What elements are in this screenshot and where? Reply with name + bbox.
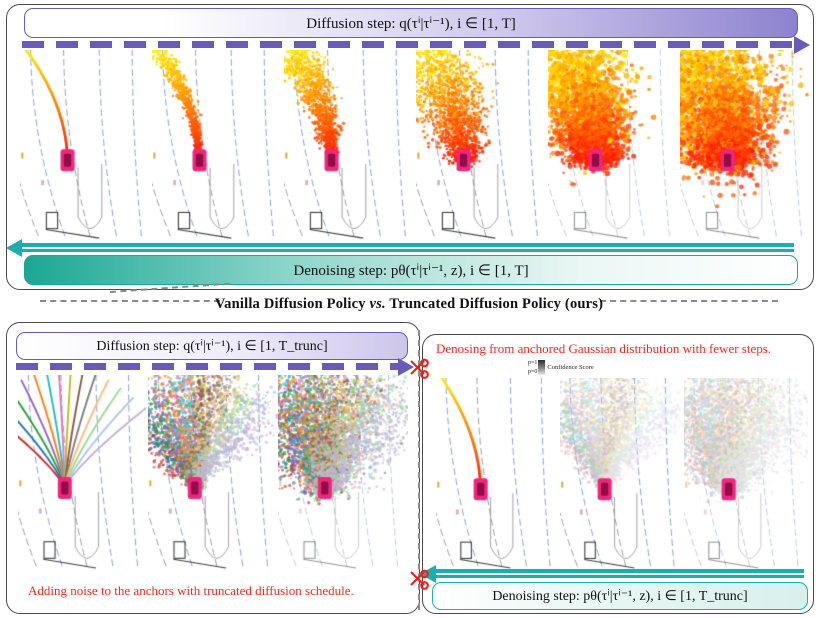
arrow-shaft [22,243,794,247]
scene-br-2 [560,378,684,570]
arrow-shaft [16,363,398,370]
scene-bl-2 [148,375,278,570]
scene-top-5 [548,50,680,240]
br-denoising-step-text: Denoising step: pθ(τⁱ|τⁱ⁻¹, z), i ∈ [1, … [492,588,747,605]
divider-caption-emph: vs. [370,296,386,312]
divider-caption-part2: Truncated Diffusion Policy (ours) [386,296,603,312]
legend-gradient-bar [538,360,545,375]
br-note-text: Denosing from anchored Gaussian distribu… [436,341,771,357]
top-diffusion-step-text: Diffusion step: q(τⁱ|τⁱ⁻¹), i ∈ [1, T] [306,14,516,33]
arrow-shaft [22,41,794,48]
scene-br-1 [436,378,560,570]
top-diffusion-step-label: Diffusion step: q(τⁱ|τⁱ⁻¹), i ∈ [1, T] [24,8,798,38]
divider-caption-part1: Vanilla Diffusion Policy [215,296,370,312]
bl-diffusion-step-label: Diffusion step: q(τⁱ|τⁱ⁻¹), i ∈ [1, T_tr… [16,332,408,360]
scene-top-2 [152,50,284,240]
top-denoising-step-label: Denoising step: pθ(τⁱ|τⁱ⁻¹, z), i ∈ [1, … [24,255,798,285]
scene-bl-3 [278,375,408,570]
confidence-score-legend: p=1 p=0 Confidence Score [528,360,594,375]
divider-caption: Vanilla Diffusion Policy vs. Truncated D… [0,296,818,313]
legend-top-label: p=1 [528,360,537,366]
legend-ticks: p=1 p=0 [528,360,537,375]
scene-top-3 [284,50,416,240]
scene-br-3 [684,378,808,570]
scene-bl-1 [18,375,148,570]
legend-caption: Confidence Score [547,364,593,371]
arrow-shaft [436,569,804,573]
figure-root: Diffusion step: q(τⁱ|τⁱ⁻¹), i ∈ [1, T] D… [0,0,818,618]
arrow-shaft-second [22,249,794,252]
scene-top-6 [680,50,812,240]
scene-top-4 [416,50,548,240]
top-denoising-step-text: Denoising step: pθ(τⁱ|τⁱ⁻¹, z), i ∈ [1, … [293,261,528,280]
arrow-head-left [6,239,22,257]
br-denoising-step-label: Denoising step: pθ(τⁱ|τⁱ⁻¹, z), i ∈ [1, … [432,582,808,610]
arrow-shaft-second [436,575,804,578]
bl-diffusion-step-text: Diffusion step: q(τⁱ|τⁱ⁻¹), i ∈ [1, T_tr… [96,338,327,355]
bl-note-text: Adding noise to the anchors with truncat… [28,583,354,599]
scissors-icon-top [407,357,431,388]
scene-top-1 [20,50,152,240]
legend-bottom-label: p=0 [528,369,537,375]
scissors-icon-bottom [407,568,431,599]
